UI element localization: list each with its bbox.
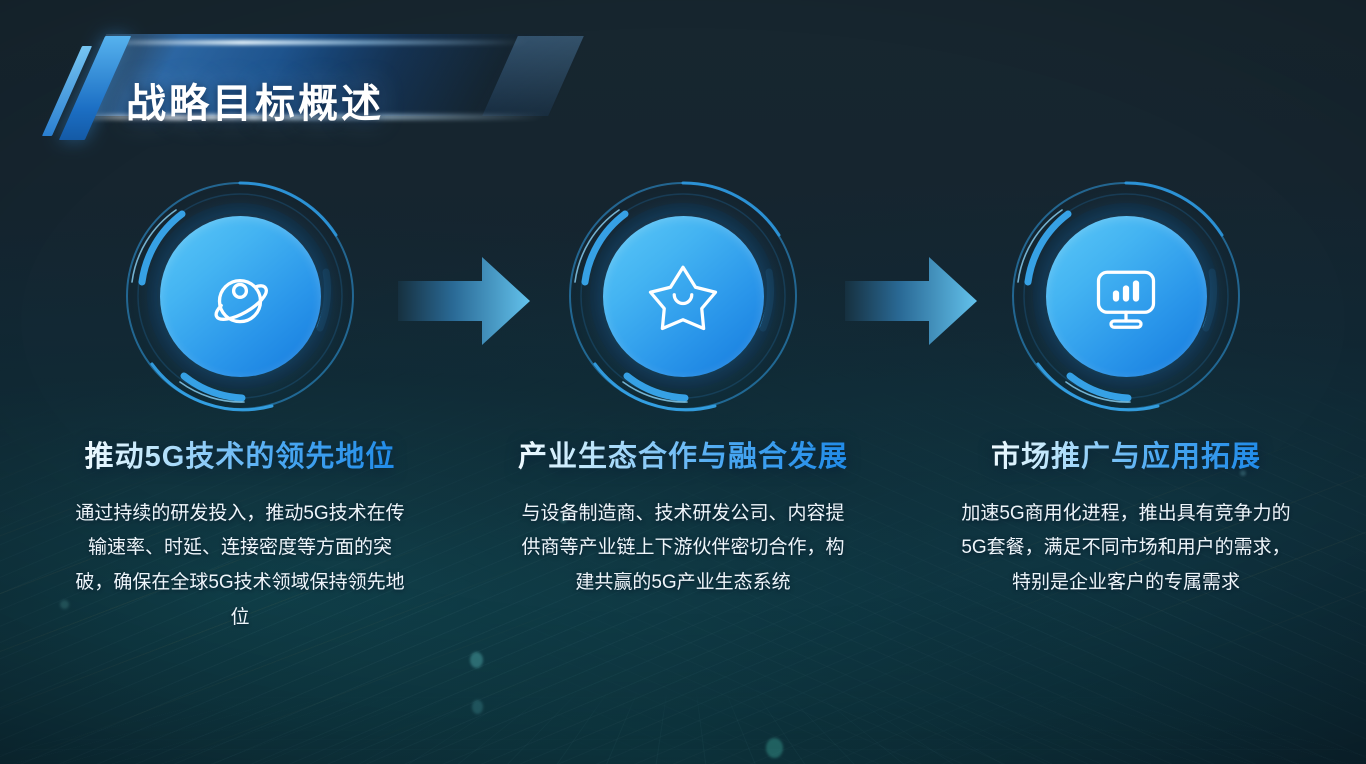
star-smile-icon (643, 256, 723, 336)
banner-top-glow (95, 40, 527, 45)
title-banner: 战略目标概述 (0, 24, 640, 128)
column-heading-1: 推动5G技术的领先地位 (85, 440, 396, 475)
icon-orb-3 (1046, 216, 1207, 377)
column-2: 产业生态合作与融合发展 与设备制造商、技术研发公司、内容提供商等产业链上下游伙伴… (485, 176, 881, 601)
column-heading-3: 市场推广与应用拓展 (991, 440, 1261, 475)
content-columns: 推动5G技术的领先地位 通过持续的研发投入，推动5G技术在传输速率、时延、连接密… (0, 176, 1366, 696)
column-body-2: 与设备制造商、技术研发公司、内容提供商等产业链上下游伙伴密切合作，构建共赢的5G… (513, 497, 853, 601)
icon-orb-1 (160, 216, 321, 377)
icon-badge-2[interactable] (563, 176, 803, 416)
column-3: 市场推广与应用拓展 加速5G商用化进程，推出具有竞争力的5G套餐，满足不同市场和… (928, 176, 1324, 601)
planet-icon (199, 255, 281, 337)
column-body-3: 加速5G商用化进程，推出具有竞争力的5G套餐，满足不同市场和用户的需求，特别是企… (956, 497, 1296, 601)
icon-badge-3[interactable] (1006, 176, 1246, 416)
icon-orb-2 (603, 216, 764, 377)
column-heading-2: 产业生态合作与融合发展 (518, 440, 848, 475)
column-1: 推动5G技术的领先地位 通过持续的研发投入，推动5G技术在传输速率、时延、连接密… (42, 176, 438, 635)
page-title: 战略目标概述 (126, 71, 384, 129)
monitor-chart-icon (1086, 256, 1166, 336)
column-body-1: 通过持续的研发投入，推动5G技术在传输速率、时延、连接密度等方面的突破，确保在全… (70, 497, 410, 635)
icon-badge-1[interactable] (120, 176, 360, 416)
slide-root: 战略目标概述 (0, 0, 1366, 764)
